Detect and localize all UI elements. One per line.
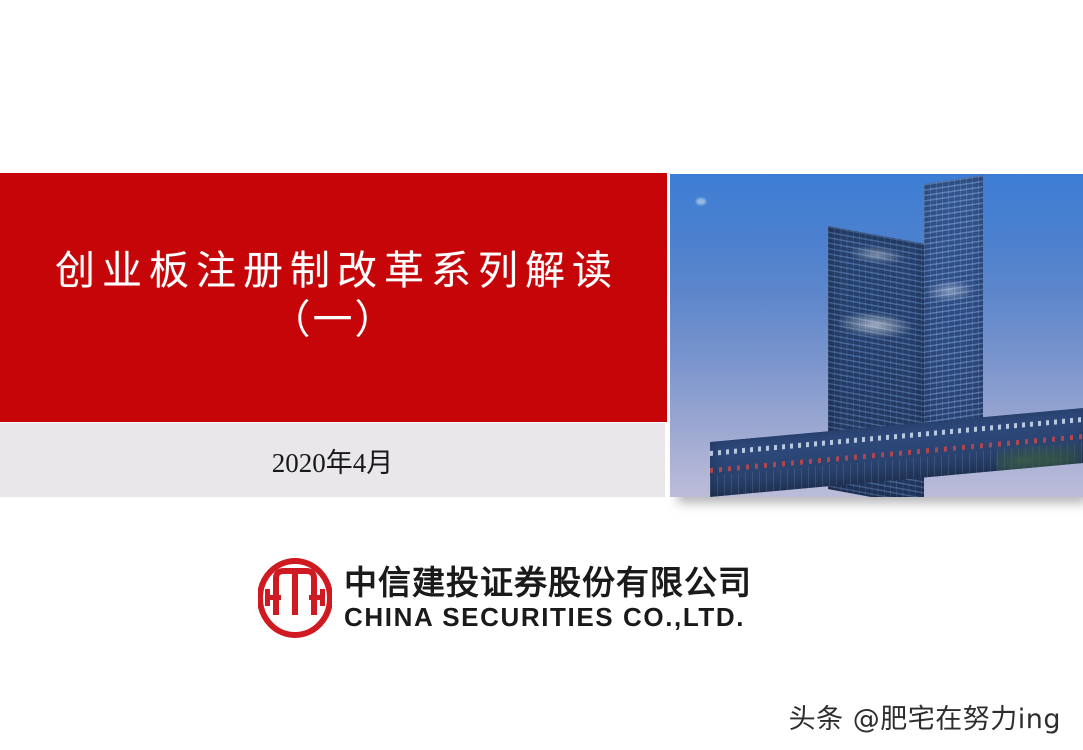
company-logo-lockup: 中信建投证券股份有限公司 CHINA SECURITIES CO.,LTD. (258, 552, 818, 644)
slide-title-line2: （一） (271, 296, 397, 345)
title-banner: 创业板注册制改革系列解读 （一） (0, 173, 667, 422)
tower-face-right (924, 175, 983, 447)
company-name-en: CHINA SECURITIES CO.,LTD. (344, 603, 752, 633)
presentation-slide: 创业板注册制改革系列解读 （一） 2020年4月 (0, 0, 1083, 750)
slide-title-line1: 创业板注册制改革系列解读 (48, 247, 619, 296)
headquarters-photo (670, 174, 1083, 497)
sun-fleck (696, 198, 706, 205)
logo-text-block: 中信建投证券股份有限公司 CHINA SECURITIES CO.,LTD. (344, 563, 752, 633)
date-strip: 2020年4月 (0, 423, 665, 497)
watermark-text: 头条 @肥宅在努力ing (789, 697, 1061, 736)
company-name-cn: 中信建投证券股份有限公司 (344, 565, 752, 601)
slide-date: 2020年4月 (272, 441, 394, 480)
citic-logo-icon (258, 558, 332, 638)
